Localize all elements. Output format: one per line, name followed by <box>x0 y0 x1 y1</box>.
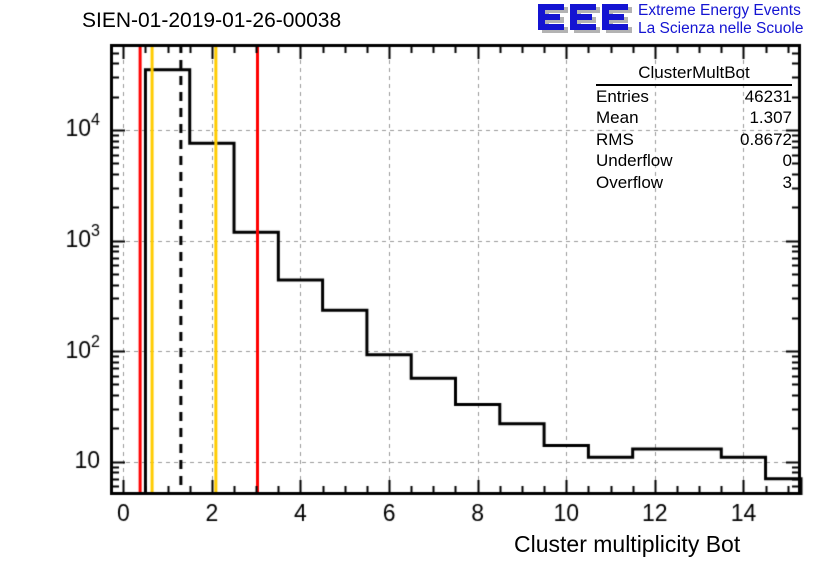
x-axis-title: Cluster multiplicity Bot <box>514 530 740 558</box>
stats-row-key: Overflow <box>596 172 663 193</box>
eee-logo-line2: La Scienza nelle Scuole <box>638 20 803 38</box>
stats-row-key: RMS <box>596 129 634 150</box>
stats-row: Mean1.307 <box>596 107 792 128</box>
eee-mark-icon <box>536 3 634 37</box>
stats-row-key: Mean <box>596 107 639 128</box>
stats-row-value: 0.8672 <box>740 129 792 150</box>
stats-row-key: Underflow <box>596 150 673 171</box>
eee-logo: Extreme Energy Events La Scienza nelle S… <box>536 2 836 40</box>
stats-row-value: 0 <box>783 150 792 171</box>
stats-row: Underflow0 <box>596 150 792 171</box>
eee-logo-line1: Extreme Energy Events <box>638 2 801 20</box>
stats-row-value: 1.307 <box>749 107 792 128</box>
stats-row: RMS0.8672 <box>596 129 792 150</box>
eee-logo-text: Extreme Energy Events La Scienza nelle S… <box>638 2 836 40</box>
stats-row-value: 3 <box>783 172 792 193</box>
stats-row-value: 46231 <box>745 86 792 107</box>
stats-row: Entries46231 <box>596 86 792 107</box>
page-title: SIEN-01-2019-01-26-00038 <box>82 8 341 34</box>
stats-row: Overflow3 <box>596 172 792 193</box>
stats-box: ClusterMultBot Entries46231Mean1.307RMS0… <box>596 62 792 193</box>
stats-row-key: Entries <box>596 86 649 107</box>
stats-box-title: ClusterMultBot <box>596 62 792 86</box>
histogram-page: SIEN-01-2019-01-26-00038 <box>0 0 836 572</box>
stats-box-rows: Entries46231Mean1.307RMS0.8672Underflow0… <box>596 86 792 193</box>
